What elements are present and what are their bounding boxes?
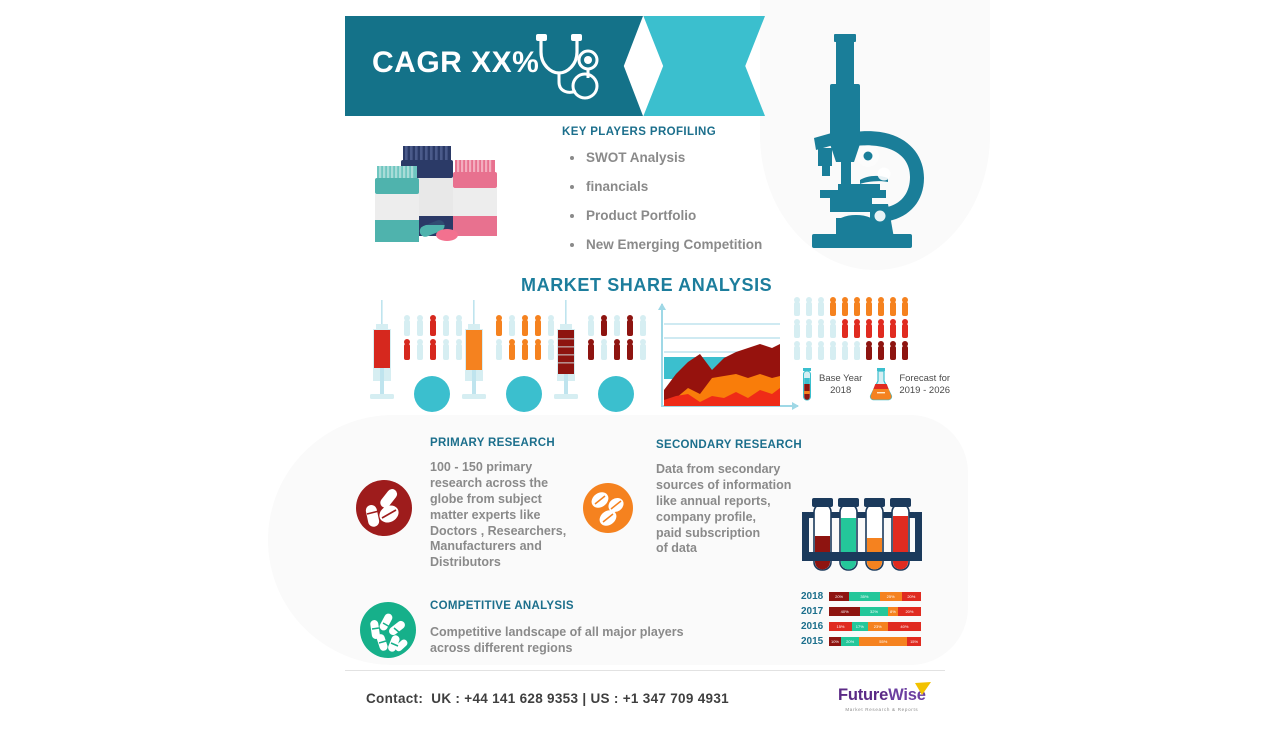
key-players-section: KEY PLAYERS PROFILING SWOT Analysis fina… — [562, 126, 762, 266]
list-item: Product Portfolio — [562, 208, 762, 223]
table-row: 2015 10% 20% 55% 15% — [801, 635, 921, 648]
list-item: financials — [562, 179, 762, 194]
contact-label: Contact: — [366, 691, 423, 706]
legend-forecast: Forecast for 2019 - 2026 — [868, 368, 950, 402]
cagr-headline: CAGR XX% — [372, 46, 539, 80]
legend-base-year: Base Year 2018 — [800, 368, 862, 402]
secondary-research-body: Data from secondary sources of informati… — [656, 462, 791, 557]
bar-segment: 10% — [829, 637, 841, 646]
year-share-bars: 2018 20% 35% 25% 20% 2017 40% 32% 8% 20%… — [801, 590, 921, 650]
bar-segment: 40% — [888, 622, 921, 631]
legend-forecast-line1: Forecast for — [899, 373, 950, 385]
contact-value: UK : +44 141 628 9353 | US : +1 347 709 … — [431, 691, 729, 706]
microscope-icon — [808, 22, 948, 259]
key-players-list: SWOT Analysis financials Product Portfol… — [562, 150, 762, 252]
primary-research-title: PRIMARY RESEARCH — [430, 437, 555, 449]
bar-segment: 20% — [902, 592, 921, 601]
footer-divider — [345, 670, 945, 671]
bar-segment: 25% — [880, 592, 902, 601]
logo-text-future: Future — [838, 686, 888, 704]
market-share-area-chart — [652, 302, 802, 419]
stethoscope-icon — [533, 34, 603, 105]
bar-segment: 20% — [829, 592, 849, 601]
market-share-title: MARKET SHARE ANALYSIS — [521, 275, 772, 296]
competitive-analysis-icon — [360, 602, 416, 663]
swoosh-icon — [914, 682, 932, 696]
logo-tagline: Market Research & Reports — [838, 707, 926, 712]
contact-info: Contact: UK : +44 141 628 9353 | US : +1… — [366, 691, 729, 706]
test-tube-rack-illustration — [798, 492, 926, 583]
legend-base-year-text: Base Year 2018 — [819, 373, 862, 397]
table-row: 2016 15% 17% 23% 40% — [801, 620, 921, 633]
syringe-group-2 — [462, 300, 486, 399]
chart-legend: Base Year 2018 Forecast for 2019 - 2026 — [800, 368, 950, 402]
logo-wordmark: FutureWise — [838, 686, 926, 705]
year-label: 2016 — [801, 621, 829, 632]
futurewise-logo[interactable]: FutureWise Market Research & Reports — [838, 686, 926, 712]
bar-track: 15% 17% 23% 40% — [829, 622, 921, 631]
competitive-analysis-title: COMPETITIVE ANALYSIS — [430, 600, 574, 612]
year-label: 2015 — [801, 636, 829, 647]
syringe-group-3 — [554, 300, 578, 399]
bar-segment: 20% — [841, 637, 859, 646]
bar-segment: 55% — [859, 637, 907, 646]
flask-icon — [868, 368, 894, 402]
bar-segment: 17% — [852, 622, 868, 631]
list-item: New Emerging Competition — [562, 237, 762, 252]
infographic-page: CAGR XX% — [0, 0, 1280, 731]
legend-forecast-line2: 2019 - 2026 — [899, 385, 950, 397]
table-row: 2017 40% 32% 8% 20% — [801, 605, 921, 618]
bar-segment: 15% — [829, 622, 852, 631]
test-tube-icon — [800, 368, 814, 402]
bar-track: 40% 32% 8% 20% — [829, 607, 921, 616]
bar-segment: 20% — [898, 607, 921, 616]
bar-track: 20% 35% 25% 20% — [829, 592, 921, 601]
bar-segment: 15% — [907, 637, 921, 646]
bar-segment: 35% — [849, 592, 879, 601]
secondary-research-icon — [583, 483, 633, 538]
people-ratio-rows — [792, 296, 916, 369]
syringe-groups-illustration — [360, 300, 650, 423]
secondary-research-title: SECONDARY RESEARCH — [656, 439, 802, 451]
legend-base-year-line1: Base Year — [819, 373, 862, 385]
pill-bottles-illustration — [363, 138, 508, 261]
bar-segment: 32% — [860, 607, 888, 616]
legend-base-year-line2: 2018 — [819, 385, 862, 397]
primary-research-body: 100 - 150 primary research across the gl… — [430, 460, 566, 571]
table-row: 2018 20% 35% 25% 20% — [801, 590, 921, 603]
cagr-banner: CAGR XX% — [345, 16, 765, 116]
key-players-title: KEY PLAYERS PROFILING — [562, 126, 762, 138]
syringe-group-1 — [370, 300, 394, 399]
year-label: 2017 — [801, 606, 829, 617]
primary-research-icon — [356, 480, 412, 541]
bar-segment: 8% — [888, 607, 898, 616]
bar-segment: 40% — [829, 607, 860, 616]
bar-segment: 23% — [868, 622, 888, 631]
legend-forecast-text: Forecast for 2019 - 2026 — [899, 373, 950, 397]
bar-track: 10% 20% 55% 15% — [829, 637, 921, 646]
list-item: SWOT Analysis — [562, 150, 762, 165]
year-label: 2018 — [801, 591, 829, 602]
competitive-analysis-body: Competitive landscape of all major playe… — [430, 624, 684, 657]
